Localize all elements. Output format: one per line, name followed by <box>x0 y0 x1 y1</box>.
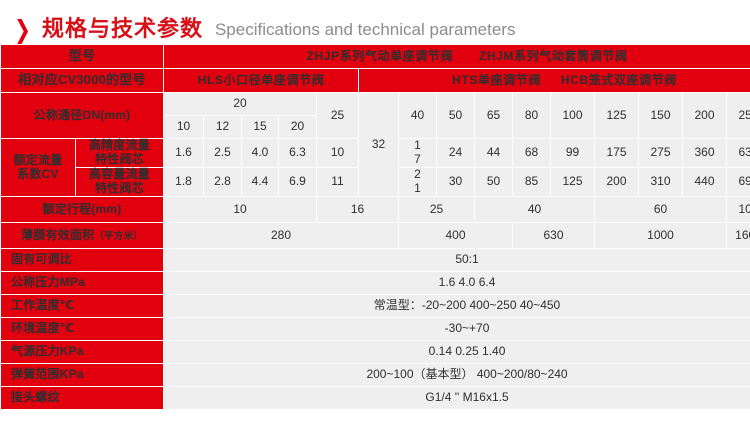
label-nominal-dn: 公称通径DN(mm) <box>1 93 164 139</box>
dn-80: 80 <box>513 93 551 139</box>
stroke-100: 100 <box>727 197 750 223</box>
label-air-supply-pressure: 气源压力KPa <box>1 341 164 364</box>
dn-100: 100 <box>551 93 595 139</box>
header-hls: HLS小口径单座调节阀 <box>164 69 359 93</box>
page-title-bar: ❯ 规格与技术参数 Specifications and technical p… <box>0 0 750 44</box>
label-thread: 接头螺纹 <box>1 387 164 410</box>
dn-group-20: 20 <box>164 93 317 116</box>
cv-hp-12: 2.5 <box>204 139 242 168</box>
value-working-temp: 常温型：-20~200 400~250 40~450 <box>164 295 750 318</box>
label-hp-line1: 高精度流量 <box>76 139 163 153</box>
cv-hc-80: 125 <box>551 168 595 197</box>
cv-hp-15: 4.0 <box>242 139 279 168</box>
cv-hp-80: 99 <box>551 139 595 168</box>
dn-32: 32 <box>359 93 399 197</box>
dn-200: 200 <box>683 93 727 139</box>
table-row: 公称压力MPa 1.6 4.0 6.4 <box>1 272 750 295</box>
header-model-series: ZHJP系列气动单座调节阀 ZHJM系列气动套筒调节阀 <box>164 45 750 69</box>
label-hc-line1: 高容量流量 <box>76 168 163 182</box>
cv-hc-25: 11 <box>317 168 359 197</box>
chevron-right-icon: ❯ <box>14 17 31 42</box>
model-zhjp: ZHJP系列气动单座调节阀 <box>307 49 453 63</box>
label-rangeability: 固有可调比 <box>1 249 164 272</box>
cv-hc-100: 200 <box>595 168 639 197</box>
label-nominal-pressure: 公称压力MPa <box>1 272 164 295</box>
dn-50: 50 <box>437 93 475 139</box>
label-hp-line2: 特性阀芯 <box>76 153 163 167</box>
label-cv3000-model: 相对应CV3000的型号 <box>1 69 164 93</box>
cv-hp-100: 175 <box>595 139 639 168</box>
page-subtitle: Specifications and technical parameters <box>215 21 516 38</box>
cv-hp-20: 6.3 <box>279 139 317 168</box>
table-row: 额定行程(mm) 10 16 25 40 60 100 <box>1 197 750 223</box>
table-row: 公称通径DN(mm) 20 25 32 40 50 65 80 100 125 … <box>1 93 750 116</box>
dn-65: 65 <box>475 93 513 139</box>
cv-hc-125: 310 <box>639 168 683 197</box>
value-nominal-pressure: 1.6 4.0 6.4 <box>164 272 750 295</box>
header-hcb: HCB笼式双座调节阀 <box>561 73 677 87</box>
label-high-precision-core: 高精度流量 特性阀芯 <box>76 139 164 168</box>
cv-hp-32: 17 <box>399 139 437 168</box>
label-rated-flow-cv: 额定流量 系数CV <box>1 139 76 197</box>
table-row: 环境温度℃ -30~+70 <box>1 318 750 341</box>
table-row: 接头螺纹 G1/4 '' M16x1.5 <box>1 387 750 410</box>
table-row: 弹簧范围KPa 200~100（基本型） 400~200/80~240 <box>1 364 750 387</box>
label-working-temp: 工作温度℃ <box>1 295 164 318</box>
cv-hp-10: 1.6 <box>164 139 204 168</box>
cv-hp-50: 44 <box>475 139 513 168</box>
label-rated-stroke: 额定行程(mm) <box>1 197 164 223</box>
cv-hp-40: 24 <box>437 139 475 168</box>
area-280: 280 <box>164 223 399 249</box>
specifications-table: 型号 ZHJP系列气动单座调节阀 ZHJM系列气动套筒调节阀 相对应CV3000… <box>0 44 750 410</box>
table-row: 工作温度℃ 常温型：-20~200 400~250 40~450 <box>1 295 750 318</box>
area-630: 630 <box>513 223 595 249</box>
cv-hc-150: 440 <box>683 168 727 197</box>
cv-hc-65: 85 <box>513 168 551 197</box>
cv-hc-20: 6.9 <box>279 168 317 197</box>
value-spring-range: 200~100（基本型） 400~200/80~240 <box>164 364 750 387</box>
cv-hp-125: 275 <box>639 139 683 168</box>
label-rated-flow-line2: 系数CV <box>1 168 75 182</box>
cv-hp-150: 360 <box>683 139 727 168</box>
stroke-25: 25 <box>399 197 475 223</box>
table-row: 固有可调比 50:1 <box>1 249 750 272</box>
dn-25: 25 <box>317 93 359 139</box>
stroke-40: 40 <box>475 197 595 223</box>
cv-hc-10: 1.8 <box>164 168 204 197</box>
value-air-supply-pressure: 0.14 0.25 1.40 <box>164 341 750 364</box>
label-spring-range: 弹簧范围KPa <box>1 364 164 387</box>
dn-150: 150 <box>639 93 683 139</box>
header-hts: HTS单座调节阀 <box>452 73 541 87</box>
cv-hc-32: 21 <box>399 168 437 197</box>
value-ambient-temp: -30~+70 <box>164 318 750 341</box>
model-zhjm: ZHJM系列气动套筒调节阀 <box>479 49 627 63</box>
spec-page: ❯ 规格与技术参数 Specifications and technical p… <box>0 0 750 432</box>
dn-40: 40 <box>399 93 437 139</box>
dn-sub-20: 20 <box>279 116 317 139</box>
cv-hc-200: 690 <box>727 168 750 197</box>
area-1600: 1600 <box>727 223 750 249</box>
label-model: 型号 <box>1 45 164 69</box>
dn-250: 250 <box>727 93 750 139</box>
page-title: 规格与技术参数 <box>42 18 203 40</box>
value-thread: G1/4 '' M16x1.5 <box>164 387 750 410</box>
table-row: 型号 ZHJP系列气动单座调节阀 ZHJM系列气动套筒调节阀 <box>1 45 750 69</box>
cv-hc-12: 2.8 <box>204 168 242 197</box>
dn-sub-15: 15 <box>242 116 279 139</box>
stroke-16: 16 <box>317 197 399 223</box>
dn-sub-12: 12 <box>204 116 242 139</box>
stroke-60: 60 <box>595 197 727 223</box>
area-1000: 1000 <box>595 223 727 249</box>
cv-hc-50: 50 <box>475 168 513 197</box>
label-diaphragm-main: 薄膜有效面积 <box>21 228 94 242</box>
table-row: 相对应CV3000的型号 HLS小口径单座调节阀 HTS单座调节阀 HCB笼式双… <box>1 69 750 93</box>
cv-hp-200: 630 <box>727 139 750 168</box>
cv-hp-65: 68 <box>513 139 551 168</box>
label-diaphragm-unit: （平方米） <box>94 231 143 242</box>
cv-hc-40: 30 <box>437 168 475 197</box>
label-rated-flow-line1: 额定流量 <box>1 154 75 168</box>
label-high-capacity-core: 高容量流量 特性阀芯 <box>76 168 164 197</box>
table-row: 气源压力KPa 0.14 0.25 1.40 <box>1 341 750 364</box>
dn-sub-10: 10 <box>164 116 204 139</box>
cv-hp-25: 10 <box>317 139 359 168</box>
label-hc-line2: 特性阀芯 <box>76 182 163 196</box>
label-diaphragm-area: 薄膜有效面积（平方米） <box>1 223 164 249</box>
table-row: 薄膜有效面积（平方米） 280 400 630 1000 1600 <box>1 223 750 249</box>
area-400: 400 <box>399 223 513 249</box>
value-rangeability: 50:1 <box>164 249 750 272</box>
cv-hc-15: 4.4 <box>242 168 279 197</box>
dn-125: 125 <box>595 93 639 139</box>
stroke-10: 10 <box>164 197 317 223</box>
label-ambient-temp: 环境温度℃ <box>1 318 164 341</box>
header-hts-hcb: HTS单座调节阀 HCB笼式双座调节阀 <box>359 69 750 93</box>
